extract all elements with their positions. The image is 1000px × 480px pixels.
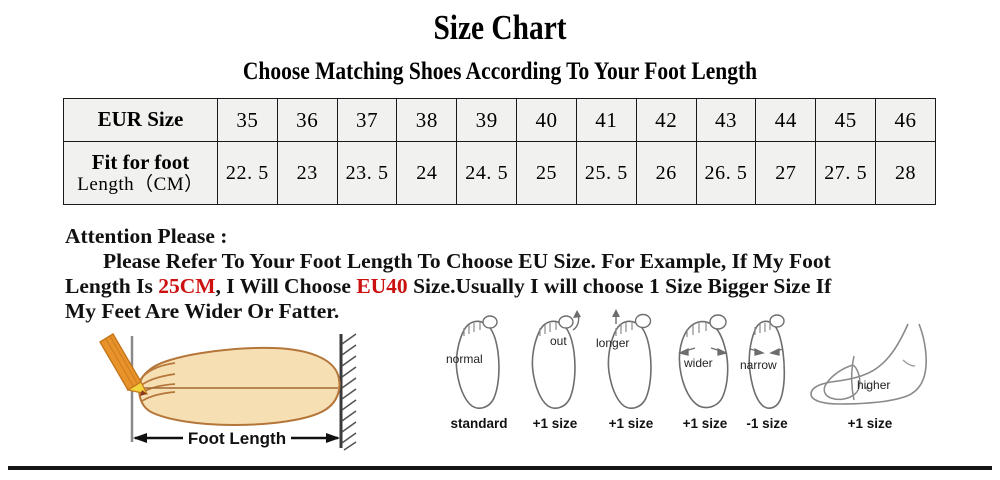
cell-eur-4: 39 <box>457 99 517 142</box>
cell-len-9: 27 <box>756 142 816 205</box>
foot-type-longer: longer +1 size <box>592 308 670 431</box>
foot-type-standard-size-label: standard <box>440 416 518 431</box>
attention-line-2-c: Size.Usually I will choose 1 Size Bigger… <box>408 274 832 298</box>
table-row-foot-length: Fit for foot Length（CM） 22. 5 23 23. 5 2… <box>64 142 936 205</box>
measure-diagram-svg: Foot Length <box>95 330 370 455</box>
foot-type-toe-out-inner-label: out <box>550 334 567 348</box>
cell-len-2: 23. 5 <box>337 142 397 205</box>
cell-eur-8: 43 <box>696 99 756 142</box>
foot-side-profile-icon: higher <box>795 308 945 416</box>
wall-hatching-icon <box>342 334 356 450</box>
cell-len-1: 23 <box>277 142 337 205</box>
row-label-foot-length-line1: Fit for foot <box>92 150 190 174</box>
foot-type-toe-out-size-label: +1 size <box>516 416 594 431</box>
cell-eur-11: 46 <box>876 99 936 142</box>
cell-eur-10: 45 <box>816 99 876 142</box>
cell-len-4: 24. 5 <box>457 142 517 205</box>
cell-eur-7: 42 <box>636 99 696 142</box>
attention-line-1-text: Please Refer To Your Foot Length To Choo… <box>103 249 831 273</box>
footprint-icon: normal <box>440 308 518 416</box>
row-label-eur-size: EUR Size <box>64 99 218 142</box>
cell-len-11: 28 <box>876 142 936 205</box>
cell-len-6: 25. 5 <box>576 142 636 205</box>
cell-eur-6: 41 <box>576 99 636 142</box>
cell-len-5: 25 <box>517 142 577 205</box>
attention-line-2-b: , I Will Choose <box>216 274 357 298</box>
foot-type-longer-size-label: +1 size <box>592 416 670 431</box>
cell-len-0: 22. 5 <box>218 142 278 205</box>
size-chart-table: EUR Size 35 36 37 38 39 40 41 42 43 44 4… <box>63 98 936 205</box>
cell-len-10: 27. 5 <box>816 142 876 205</box>
cell-len-3: 24 <box>397 142 457 205</box>
foot-shape-icon <box>139 348 339 425</box>
foot-type-longer-inner-label: longer <box>596 336 629 350</box>
row-label-eur-size-text: EUR Size <box>98 107 184 131</box>
bottom-divider <box>8 466 992 470</box>
cell-eur-9: 44 <box>756 99 816 142</box>
attention-heading: Attention Please : <box>65 224 937 249</box>
cell-eur-3: 38 <box>397 99 457 142</box>
highlight-foot-length: 25CM <box>158 274 215 298</box>
foot-length-caption: Foot Length <box>188 429 286 448</box>
foot-type-higher: higher +1 size <box>795 308 945 431</box>
page-subtitle: Choose Matching Shoes According To Your … <box>70 58 930 86</box>
foot-type-toe-out: out +1 size <box>516 308 594 431</box>
foot-type-legend: normal standard out +1 size <box>440 308 940 458</box>
foot-type-higher-size-label: +1 size <box>795 416 945 431</box>
page-title: Size Chart <box>80 8 920 48</box>
foot-type-higher-inner-label: higher <box>857 378 890 392</box>
footprint-longer-icon: longer <box>592 308 670 416</box>
row-label-foot-length: Fit for foot Length（CM） <box>64 142 218 205</box>
foot-type-standard-inner-label: normal <box>446 352 483 366</box>
cell-len-8: 26. 5 <box>696 142 756 205</box>
foot-measurement-diagram: Foot Length <box>95 330 370 455</box>
cell-eur-2: 37 <box>337 99 397 142</box>
foot-length-dimension: Foot Length <box>133 429 340 448</box>
foot-type-standard: normal standard <box>440 308 518 431</box>
foot-type-wider-inner-label: wider <box>684 356 713 370</box>
foot-type-narrow-inner-label: narrow <box>740 358 777 372</box>
attention-line-2-a: Length Is <box>65 274 158 298</box>
attention-line-1: Please Refer To Your Foot Length To Choo… <box>65 249 937 274</box>
attention-line-2: Length Is 25CM, I Will Choose EU40 Size.… <box>65 274 937 299</box>
cell-eur-5: 40 <box>517 99 577 142</box>
cell-eur-1: 36 <box>277 99 337 142</box>
pencil-icon <box>100 334 147 396</box>
row-label-foot-length-line2: Length（CM） <box>68 174 213 195</box>
cell-eur-0: 35 <box>218 99 278 142</box>
highlight-eu-size: EU40 <box>356 274 407 298</box>
table-row-eur-size: EUR Size 35 36 37 38 39 40 41 42 43 44 4… <box>64 99 936 142</box>
cell-len-7: 26 <box>636 142 696 205</box>
footprint-toe-out-icon: out <box>516 308 594 416</box>
